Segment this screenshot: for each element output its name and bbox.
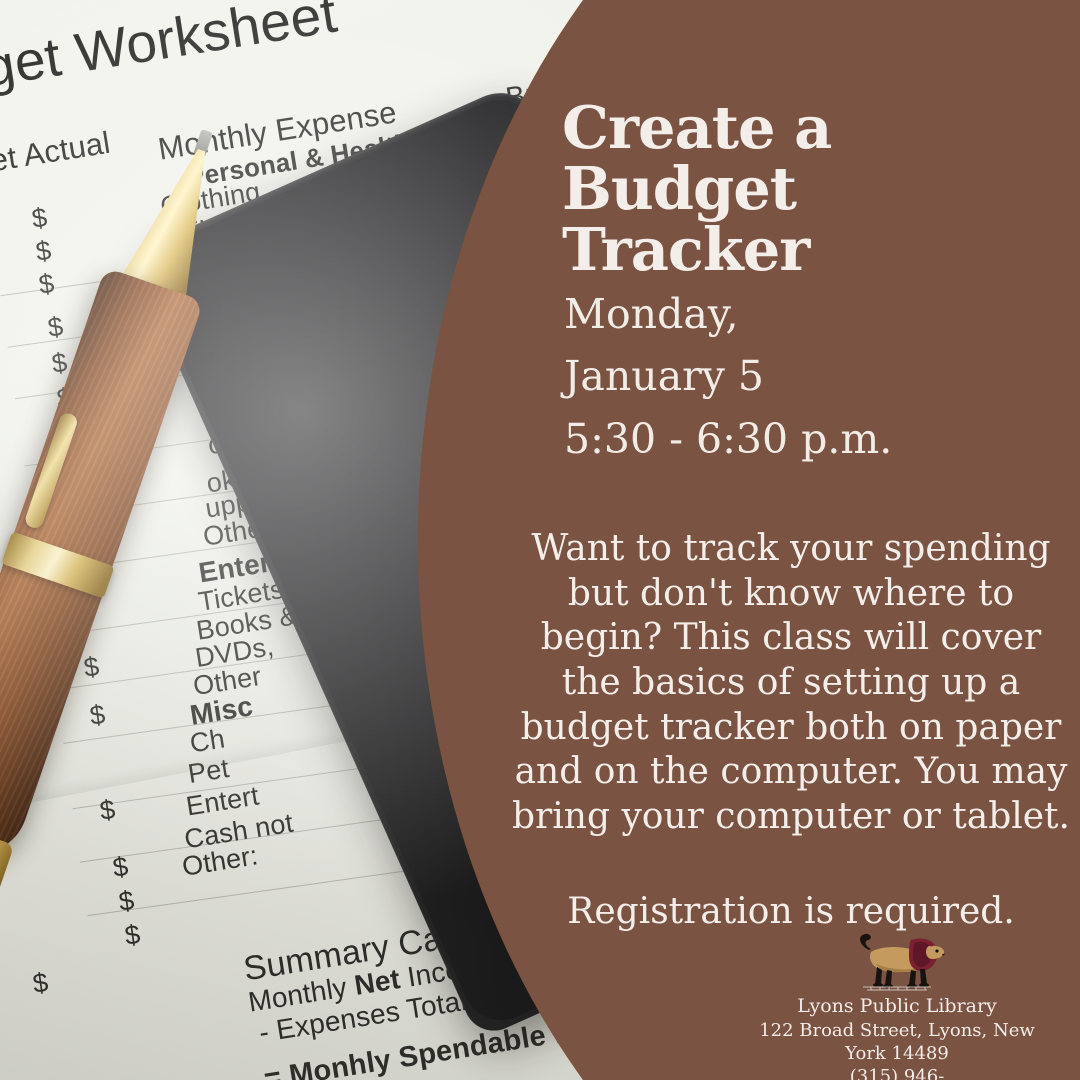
lion-icon bbox=[849, 930, 945, 992]
library-phone[interactable]: (315) 946-9262 bbox=[764, 1066, 944, 1080]
event-datetime: Monday, January 5 5:30 - 6:30 p.m. bbox=[564, 283, 1044, 470]
library-logo-block: Lyons Public Library 122 Broad Street, L… bbox=[747, 930, 1047, 1080]
library-name: Lyons Public Library bbox=[747, 994, 1047, 1019]
event-time: 5:30 - 6:30 p.m. bbox=[564, 408, 1044, 470]
library-contact: (315) 946-9262|lyonspubliclibrary.org bbox=[747, 1065, 1047, 1080]
poster-canvas: $ $ $ $ $ $ $ $ $ $ $ $ $ $ $ $ $ $ get … bbox=[0, 0, 1080, 1080]
library-address: 122 Broad Street, Lyons, New York 14489 bbox=[747, 1019, 1047, 1066]
library-footer-text: Lyons Public Library 122 Broad Street, L… bbox=[747, 994, 1047, 1080]
event-title: Create a Budget Tracker bbox=[562, 98, 1062, 280]
event-description: Want to track your spending but don't kn… bbox=[508, 527, 1074, 839]
event-day: Monday, bbox=[564, 283, 1044, 345]
registration-note: Registration is required. bbox=[508, 891, 1074, 932]
poster-content: Create a Budget Tracker Monday, January … bbox=[500, 0, 1080, 1080]
event-date: January 5 bbox=[564, 345, 1044, 407]
